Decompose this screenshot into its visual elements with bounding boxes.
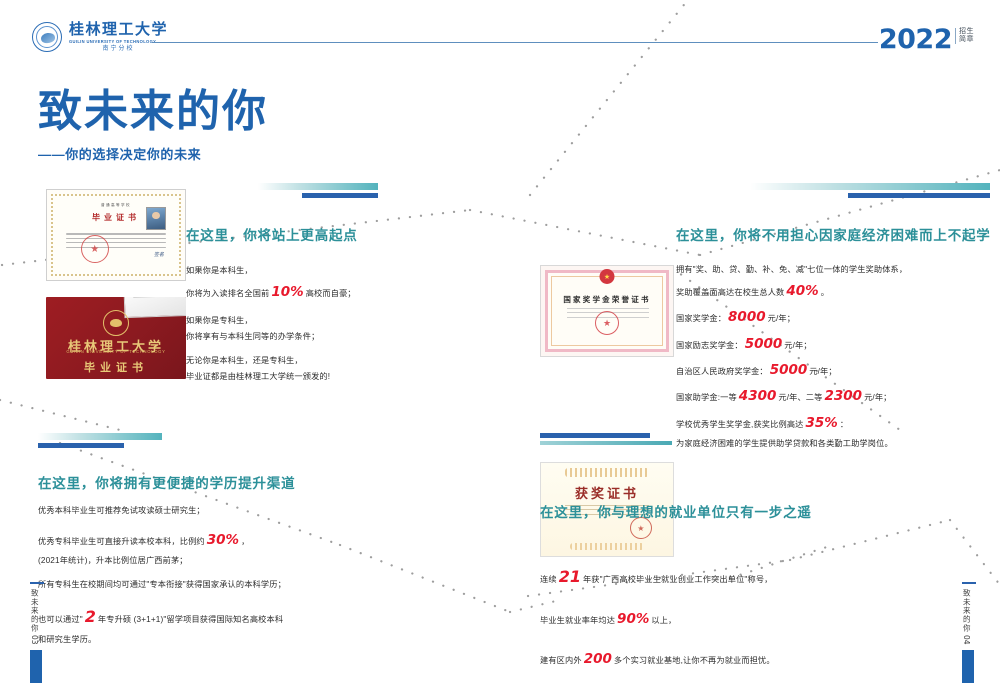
page-header: 桂林理工大学 GUILIN UNIVERSITY OF TECHNOLOGY 南…: [0, 0, 1000, 68]
body-text: 优秀本科毕业生可推荐免试攻读硕士研究生；: [38, 506, 205, 515]
university-logo: 桂林理工大学 GUILIN UNIVERSITY OF TECHNOLOGY 南…: [32, 22, 168, 52]
diploma-cover-english: GUILIN UNIVERSITY OF TECHNOLOGY: [46, 349, 186, 354]
footer-left-label: 致未来的你: [30, 589, 38, 633]
section-heading-higher-starting-point: 在这里，你将站上更高起点: [186, 224, 358, 244]
body-text: 自治区人民政府奖学金：: [676, 367, 768, 376]
body-line: 拥有"奖、助、贷、勤、补、免、减"七位一体的学生奖助体系，: [676, 262, 907, 278]
diploma-cover-photo: 桂林理工大学 GUILIN UNIVERSITY OF TECHNOLOGY 毕…: [46, 297, 186, 379]
body-line: 国家助学金:一等4300元/年、二等2300元/年；: [676, 383, 907, 409]
highlight-value: 10%: [269, 284, 305, 300]
national-cert-title: 国家奖学金荣誉证书: [548, 294, 666, 305]
year-subtitle-line2: 简章: [959, 36, 974, 44]
header-divider: [152, 42, 878, 43]
year-number: 2022: [879, 26, 952, 53]
page-subtitle: ——你的选择决定你的未来: [38, 144, 201, 163]
year-badge: 2022 招生 简章: [879, 26, 974, 53]
section-heading-employment: 在这里，你与理想的就业单位只有一步之遥: [540, 501, 812, 521]
body-text: 为家庭经济困难的学生提供助学贷款和各类勤工助学岗位。: [676, 439, 893, 448]
paragraph-gap: [186, 345, 356, 353]
logo-branch-name: 南宁分校: [69, 46, 168, 52]
highlight-value: 2300: [823, 388, 865, 404]
highlight-value: 90%: [615, 611, 651, 627]
footer-right: 致未来的你 04: [962, 582, 1000, 683]
footer-left: 致未来的你 03: [30, 582, 71, 683]
body-text: 建有区内外: [540, 656, 582, 665]
body-text: 高校而自豪；: [306, 289, 356, 298]
body-text: 拥有"奖、助、贷、勤、补、免、减"七位一体的学生奖助体系，: [676, 265, 907, 274]
section-body-higher-starting-point: 如果你是本科生，你将为入读排名全国前10%高校而自豪；如果你是专科生，你将享有与…: [186, 263, 356, 385]
body-text: 年获"广西高校毕业生就业创业工作突出单位"称号，: [583, 575, 773, 584]
award-ornament-top-icon: [565, 468, 650, 477]
body-text: 多个实习就业基地,让你不再为就业而担忧。: [614, 656, 775, 665]
bar-teal-4: [540, 441, 672, 445]
body-text: 国家助学金:一等: [676, 393, 737, 402]
year-subtitle-line1: 招生: [959, 28, 974, 36]
diploma-emblem-icon: [103, 310, 129, 336]
section-bars-2: [750, 183, 990, 198]
award-cert-title: 获奖证书: [541, 483, 673, 502]
highlight-value: 35%: [804, 415, 840, 431]
body-line: 所有专科生在校期间均可通过"专本衔接"获得国家承认的本科学历；: [38, 577, 286, 593]
body-line: 如果你是专科生，: [186, 313, 356, 329]
body-line: 连续21年获"广西高校毕业生就业创业工作突出单位"称号，: [540, 554, 775, 600]
body-line: 奖助覆盖面高达在校生总人数40%。: [676, 278, 907, 304]
bar-teal-3: [38, 433, 162, 440]
paragraph-gap: [186, 305, 356, 313]
national-emblem-icon: [600, 269, 615, 284]
certificate-red-seal-icon: [81, 235, 109, 263]
body-text: 毕业证都是由桂林理工大学统一颁发的!: [186, 372, 330, 381]
logo-text-group: 桂林理工大学 GUILIN UNIVERSITY OF TECHNOLOGY 南…: [69, 22, 168, 52]
brochure-page: 桂林理工大学 GUILIN UNIVERSITY OF TECHNOLOGY 南…: [0, 0, 1000, 683]
body-text: 无论你是本科生，还是专科生，: [186, 356, 303, 365]
paragraph-gap: [38, 593, 286, 601]
body-line: 也可以通过"2年专升硕 (3+1+1)"留学项目获得国际知名高校本科: [38, 601, 286, 632]
section-body-employment: 连续21年获"广西高校毕业生就业创业工作突出单位"称号，毕业生就业率年均达90%…: [540, 554, 775, 679]
body-line: 学校优秀学生奖学金,获奖比例高达35%：: [676, 410, 907, 436]
body-text: 元/年；: [768, 314, 795, 323]
body-text: 奖助覆盖面高达在校生总人数: [676, 288, 784, 297]
highlight-value: 5000: [768, 362, 810, 378]
section-heading-education-upgrade: 在这里，你将拥有更便捷的学历提升渠道: [38, 472, 295, 492]
body-line: 国家奖学金：8000元/年；: [676, 304, 907, 330]
body-line: 和研究生学历。: [38, 632, 286, 648]
graduation-certificate-photo: 普通高等学校 毕业证书 签名: [46, 189, 186, 281]
section-bars-4: [540, 433, 672, 445]
highlight-value: 4300: [737, 388, 779, 404]
certificate-signature: 签名: [154, 251, 164, 258]
body-text: 国家奖学金：: [676, 314, 726, 323]
footer-left-bar: [30, 650, 42, 683]
highlight-value: 200: [582, 651, 614, 667]
body-text: 学校优秀学生奖学金,获奖比例高达: [676, 420, 804, 429]
year-subtitle: 招生 简章: [955, 28, 974, 44]
section-body-financial-aid: 拥有"奖、助、贷、勤、补、免、减"七位一体的学生奖助体系，奖助覆盖面高达在校生总…: [676, 262, 907, 452]
highlight-value: 21: [557, 567, 583, 586]
footer-left-rule: [30, 582, 44, 584]
bar-blue-4: [540, 433, 650, 438]
footer-right-rule: [962, 582, 976, 584]
body-text: (2021年统计)，升本比例位居广西前茅；: [38, 556, 188, 565]
body-text: 。: [821, 288, 829, 297]
body-text: 如果你是本科生，: [186, 266, 253, 275]
diploma-cover-subtitle: 毕业证书: [46, 359, 186, 375]
body-text: 所有专科生在校期间均可通过"专本衔接"获得国家承认的本科学历；: [38, 580, 286, 589]
body-text: ：: [840, 420, 848, 429]
body-line: 建有区内外200多个实习就业基地,让你不再为就业而担忧。: [540, 640, 775, 679]
bar-blue-2: [848, 193, 990, 198]
body-line: 为家庭经济困难的学生提供助学贷款和各类勤工助学岗位。: [676, 436, 907, 452]
section-heading-financial-aid: 在这里，你将不用担心因家庭经济困难而上不起学: [676, 224, 991, 244]
section-bars-1: [258, 183, 378, 198]
body-line: 国家励志奖学金：5000元/年；: [676, 331, 907, 357]
body-text: 元/年；: [864, 393, 891, 402]
footer-right-bar: [962, 650, 974, 683]
certificate-portrait: [146, 207, 166, 230]
body-line: (2021年统计)，升本比例位居广西前茅；: [38, 553, 286, 569]
national-cert-seal-icon: [595, 311, 619, 335]
body-text: 毕业生就业率年均达: [540, 616, 615, 625]
highlight-value: 30%: [205, 532, 241, 548]
body-text: 元/年；: [784, 341, 811, 350]
body-text: 你将享有与本科生同等的办学条件；: [186, 332, 319, 341]
bar-teal-1: [258, 183, 378, 190]
body-line: 自治区人民政府奖学金：5000元/年；: [676, 357, 907, 383]
body-text: 元/年、二等: [778, 393, 822, 402]
diploma-box-icon: [123, 297, 186, 318]
body-line: 毕业生就业率年均达90%以上，: [540, 600, 775, 639]
highlight-value: 5000: [743, 336, 785, 352]
body-text: 以上，: [651, 616, 676, 625]
page-title: 致未来的你: [38, 90, 268, 134]
body-text: 元/年；: [809, 367, 836, 376]
award-ornament-bottom-icon: [570, 543, 644, 550]
bar-blue-3: [38, 443, 124, 448]
body-text: 国家励志奖学金：: [676, 341, 743, 350]
body-line: 如果你是本科生，: [186, 263, 356, 279]
body-text: 年专升硕 (3+1+1)"留学项目获得国际知名高校本科: [98, 615, 283, 624]
body-text: 如果你是专科生，: [186, 316, 253, 325]
body-text: 连续: [540, 575, 557, 584]
body-line: 你将享有与本科生同等的办学条件；: [186, 329, 356, 345]
body-line: 优秀专科毕业生可直接升读本校本科，比例约30%，: [38, 527, 286, 553]
body-text: 你将为入读排名全国前: [186, 289, 269, 298]
logo-chinese-name: 桂林理工大学: [69, 22, 168, 37]
section-body-education-upgrade: 优秀本科毕业生可推荐免试攻读硕士研究生；优秀专科毕业生可直接升读本校本科，比例约…: [38, 503, 286, 648]
bar-teal-2: [750, 183, 990, 190]
body-line: 优秀本科毕业生可推荐免试攻读硕士研究生；: [38, 503, 286, 519]
footer-right-label: 致未来的你: [962, 589, 970, 633]
footer-left-page-number: 03: [30, 635, 39, 645]
paragraph-gap: [38, 569, 286, 577]
body-line: 毕业证都是由桂林理工大学统一颁发的!: [186, 369, 356, 385]
university-emblem-icon: [32, 22, 62, 52]
body-line: 无论你是本科生，还是专科生，: [186, 353, 356, 369]
body-text: ，: [241, 537, 249, 546]
body-text: 优秀专科毕业生可直接升读本校本科，比例约: [38, 537, 205, 546]
paragraph-gap: [38, 519, 286, 527]
footer-right-page-number: 04: [962, 635, 971, 645]
highlight-value: 2: [83, 607, 98, 626]
section-bars-3: [38, 433, 162, 448]
highlight-value: 8000: [726, 309, 768, 325]
bar-blue-1: [302, 193, 378, 198]
national-scholarship-certificate-photo: 国家奖学金荣誉证书: [540, 265, 674, 357]
highlight-value: 40%: [784, 283, 820, 299]
body-line: 你将为入读排名全国前10%高校而自豪；: [186, 279, 356, 305]
